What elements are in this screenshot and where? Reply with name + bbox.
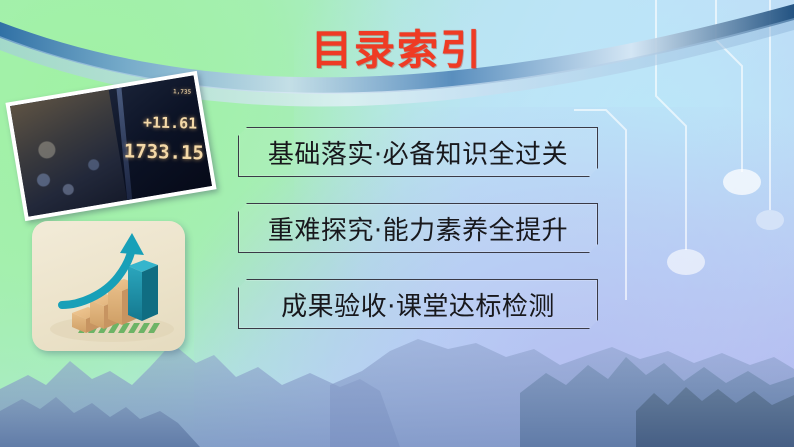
ticker-small-value: 1,735 — [173, 89, 191, 96]
menu-item-label: 基础落实·必备知识全过关 — [268, 134, 568, 171]
ticker-change-value: +11.61 — [143, 113, 198, 132]
bar-4-highlight — [128, 260, 158, 321]
circuit-node-icon — [756, 210, 784, 230]
ticker-board-image: 1,735 +11.61 1733.15 — [109, 75, 212, 200]
presentation-slide: 目录索引 1,735 +11.61 1733.15 — [0, 0, 794, 447]
circuit-node-icon — [667, 249, 705, 275]
stock-exchange-photo: 1,735 +11.61 1733.15 — [5, 71, 216, 221]
ticker-index-value: 1733.15 — [124, 141, 205, 165]
menu-item-label: 重难探究·能力素养全提升 — [268, 210, 568, 247]
menu-item-assessment[interactable]: 成果验收·课堂达标检测 — [238, 279, 598, 329]
page-title: 目录索引 — [0, 16, 794, 76]
table-of-contents-menu: 基础落实·必备知识全过关 重难探究·能力素养全提升 成果验收·课堂达标检测 — [238, 127, 598, 355]
circuit-node-icon — [723, 169, 761, 195]
menu-item-label: 成果验收·课堂达标检测 — [281, 286, 555, 323]
menu-item-exploration[interactable]: 重难探究·能力素养全提升 — [238, 203, 598, 253]
growth-chart-illustration — [32, 221, 185, 351]
menu-item-basics[interactable]: 基础落实·必备知识全过关 — [238, 127, 598, 177]
bar-chart-graphic — [32, 221, 185, 351]
